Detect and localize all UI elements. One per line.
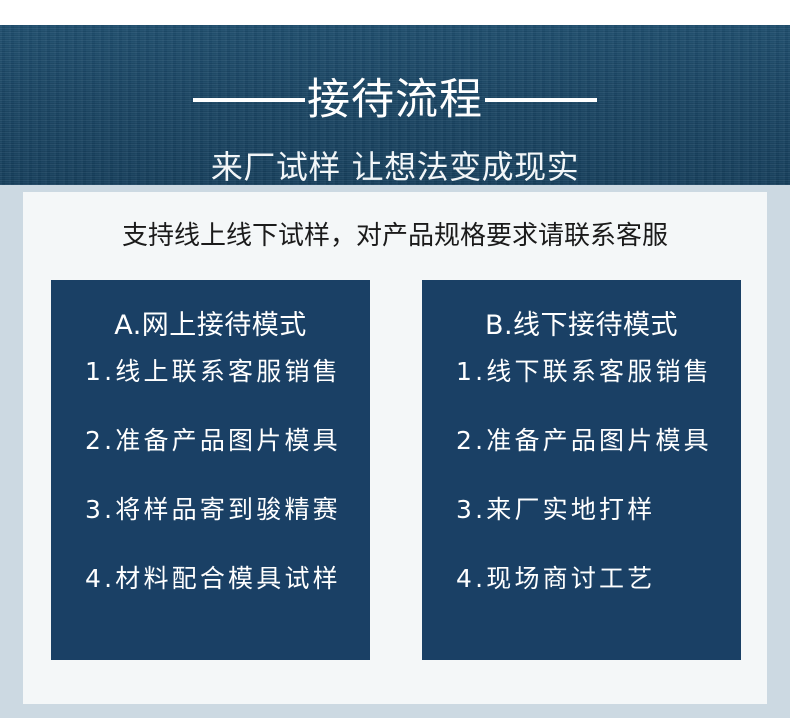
list-item: 4.现场商讨工艺	[422, 566, 741, 591]
banner-title-row: 接待流程	[0, 69, 790, 131]
page-root: 接待流程 来厂试样 让想法变成现实 支持线上线下试样，对产品规格要求请联系客服 …	[0, 0, 790, 718]
header-banner: 接待流程 来厂试样 让想法变成现实	[0, 25, 790, 185]
list-item: 3.将样品寄到骏精赛	[51, 497, 370, 522]
list-item: 2.准备产品图片模具	[51, 428, 370, 453]
title-rule-left-icon	[193, 98, 305, 102]
process-card-offline-title: B.线下接待模式	[485, 312, 678, 339]
list-item: 1.线下联系客服销售	[422, 359, 741, 384]
process-card-online-title: A.网上接待模式	[114, 312, 307, 339]
list-item: 3.来厂实地打样	[422, 497, 741, 522]
content-frame: 支持线上线下试样，对产品规格要求请联系客服 A.网上接待模式 1.线上联系客服销…	[0, 185, 790, 718]
list-item: 2.准备产品图片模具	[422, 428, 741, 453]
process-card-online-list: 1.线上联系客服销售 2.准备产品图片模具 3.将样品寄到骏精赛 4.材料配合模…	[51, 359, 370, 591]
banner-title: 接待流程	[305, 79, 485, 122]
process-card-group: A.网上接待模式 1.线上联系客服销售 2.准备产品图片模具 3.将样品寄到骏精…	[51, 280, 741, 660]
list-item: 1.线上联系客服销售	[51, 359, 370, 384]
process-card-offline-list: 1.线下联系客服销售 2.准备产品图片模具 3.来厂实地打样 4.现场商讨工艺	[422, 359, 741, 591]
list-item: 4.材料配合模具试样	[51, 566, 370, 591]
content-panel: 支持线上线下试样，对产品规格要求请联系客服 A.网上接待模式 1.线上联系客服销…	[23, 192, 767, 704]
banner-subtitle: 来厂试样 让想法变成现实	[0, 147, 790, 185]
process-card-online: A.网上接待模式 1.线上联系客服销售 2.准备产品图片模具 3.将样品寄到骏精…	[51, 280, 370, 660]
title-rule-right-icon	[485, 98, 597, 102]
panel-description: 支持线上线下试样，对产品规格要求请联系客服	[23, 220, 767, 254]
process-card-offline: B.线下接待模式 1.线下联系客服销售 2.准备产品图片模具 3.来厂实地打样 …	[422, 280, 741, 660]
